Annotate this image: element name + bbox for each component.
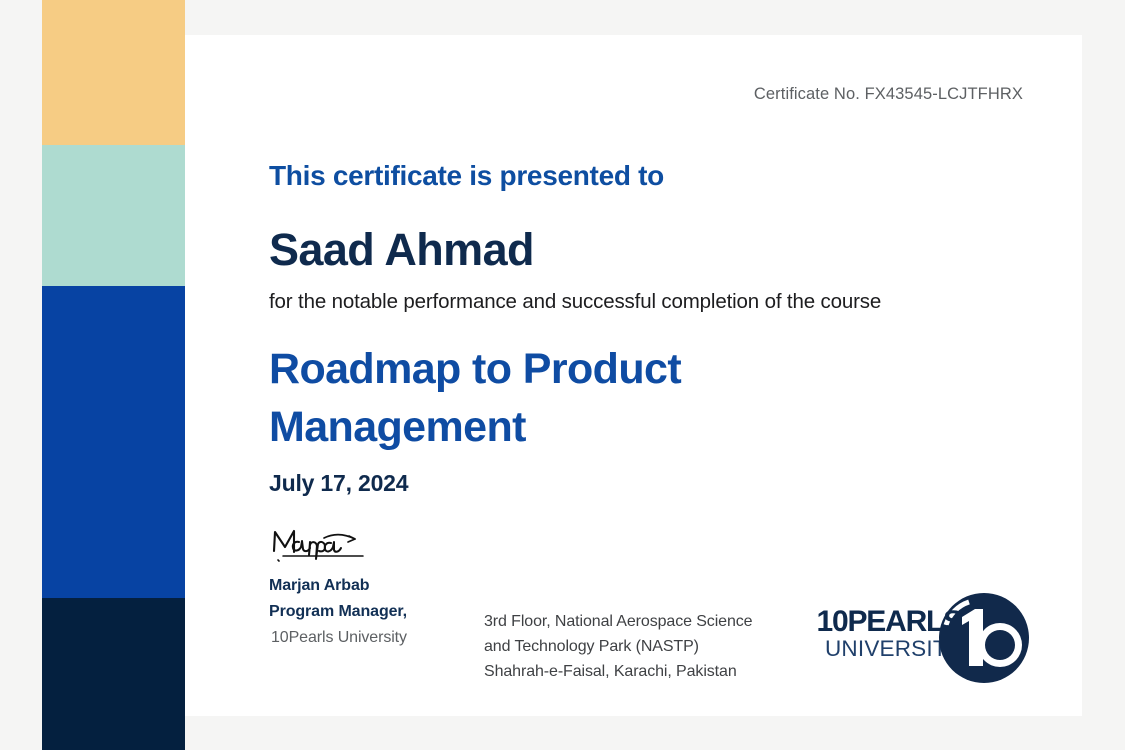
ten-pearls-circle-icon	[938, 592, 1030, 684]
signature-image	[269, 525, 377, 567]
completion-statement: for the notable performance and successf…	[269, 290, 881, 314]
color-bar-segment-navy	[42, 598, 185, 750]
course-title: Roadmap to Product Management	[269, 340, 789, 456]
signatory-role: Program Manager,	[269, 599, 469, 625]
signature-block: Marjan Arbab Program Manager, 10Pearls U…	[269, 525, 469, 651]
color-bar-segment-blue	[42, 286, 185, 598]
presented-to-heading: This certificate is presented to	[269, 160, 664, 192]
signatory-name: Marjan Arbab	[269, 573, 469, 599]
signatory-organization: 10Pearls University	[269, 625, 469, 651]
issue-date: July 17, 2024	[269, 470, 408, 497]
color-bar-segment-mint	[42, 145, 185, 286]
address-line: 3rd Floor, National Aerospace Science	[484, 609, 784, 634]
address-line: and Technology Park (NASTP)	[484, 634, 784, 659]
recipient-name: Saad Ahmad	[269, 224, 534, 276]
certificate-stage: Certificate No. FX43545-LCJTFHRX This ce…	[0, 0, 1125, 750]
address-block: 3rd Floor, National Aerospace Science an…	[484, 609, 784, 684]
color-bar-segment-amber	[42, 0, 185, 145]
certificate-number: Certificate No. FX43545-LCJTFHRX	[754, 85, 1023, 104]
address-line: Shahrah-e-Faisal, Karachi, Pakistan	[484, 659, 784, 684]
brand-logo: 10PEARLS UNIVERSITY	[800, 600, 1030, 678]
decorative-color-bar	[42, 0, 185, 750]
certificate-footer: Marjan Arbab Program Manager, 10Pearls U…	[269, 525, 1059, 700]
certificate-content: Certificate No. FX43545-LCJTFHRX This ce…	[269, 35, 1059, 716]
